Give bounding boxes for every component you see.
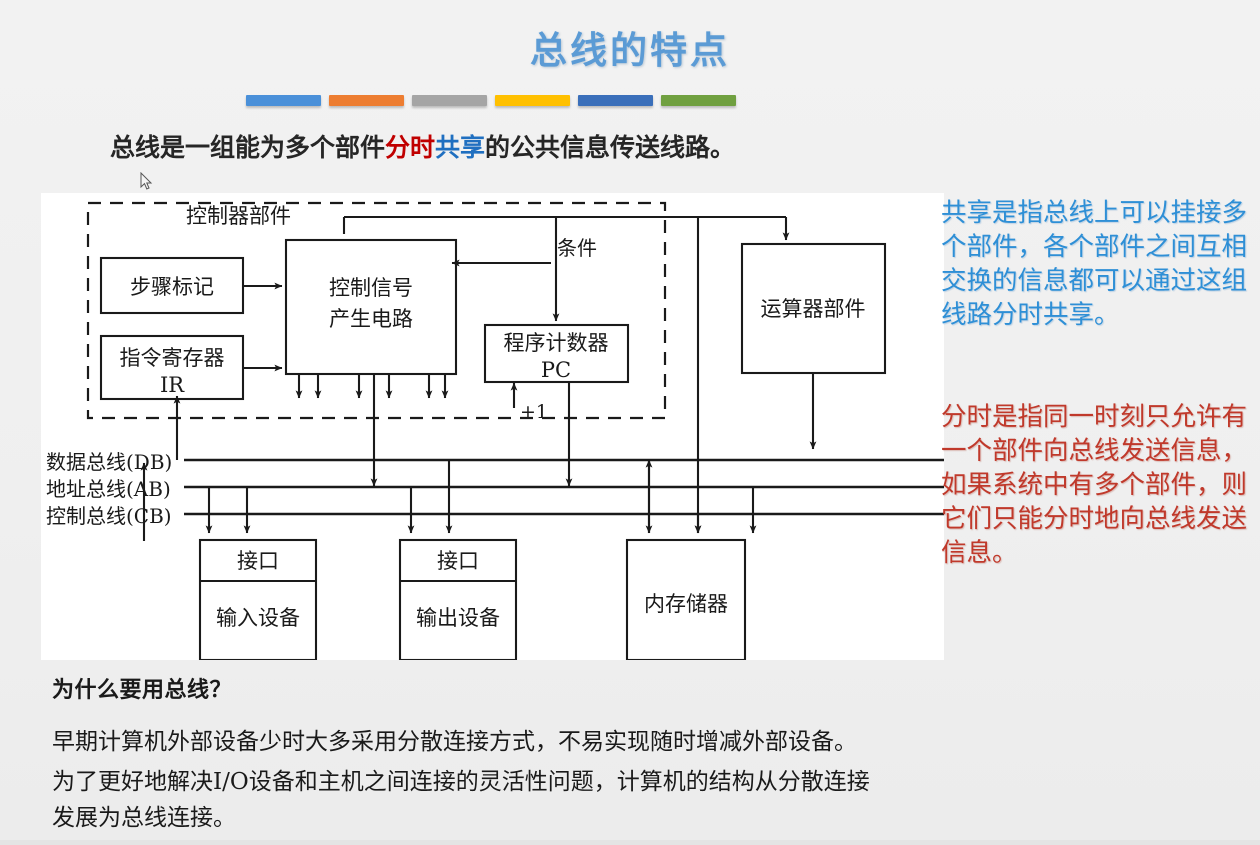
box-interface-out-label: 接口 — [437, 549, 479, 573]
box-control-label-line1: 控制信号 — [329, 276, 413, 300]
rule-bar-6 — [661, 95, 736, 106]
lead-sentence: 总线是一组能为多个部件分时共享的公共信息传送线路。 — [110, 128, 735, 164]
box-output-device-label: 输出设备 — [416, 606, 500, 630]
lead-blue-word: 共享 — [435, 133, 485, 162]
bus-label-address: 地址总线(AB) — [46, 473, 171, 502]
mouse-cursor-icon — [140, 172, 153, 191]
box-ir-label-line1: 指令寄存器 — [120, 346, 225, 370]
paragraph-line-1: 早期计算机外部设备少时大多采用分散连接方式，不易实现随时增减外部设备。 — [52, 722, 857, 756]
rule-bar-3 — [412, 95, 487, 106]
box-interface-in-label: 接口 — [237, 549, 279, 573]
note-timeshare: 分时是指同一时刻只允许有一个部件向总线发送信息，如果系统中有多个部件，则它们只能… — [941, 400, 1259, 570]
title-rule-bars — [246, 95, 736, 108]
paragraph-line-2: 为了更好地解决I/O设备和主机之间连接的灵活性问题，计算机的结构从分散连接 — [52, 762, 870, 796]
lead-part1: 总线是一组能为多个部件 — [110, 133, 385, 162]
page-title: 总线的特点 — [0, 20, 1260, 74]
label-condition: 条件 — [557, 236, 597, 260]
bus-architecture-diagram: 控制器部件 步骤标记 指令寄存器 IR 控制信号 产生电路 程序计数器 PC 运… — [41, 193, 944, 660]
slide-bottom-edge — [0, 840, 1260, 845]
rule-bar-2 — [329, 95, 404, 106]
box-input-device-label: 输入设备 — [216, 606, 300, 630]
rule-bar-5 — [578, 95, 653, 106]
rule-bar-4 — [495, 95, 570, 106]
box-control-label-line2: 产生电路 — [329, 307, 413, 331]
slide-canvas: 总线的特点 总线是一组能为多个部件分时共享的公共信息传送线路。 — [0, 0, 1260, 845]
box-pc-label-line1: 程序计数器 — [504, 331, 609, 355]
box-ir-label-line2: IR — [160, 373, 185, 397]
diagram-group-label: 控制器部件 — [186, 204, 291, 228]
rule-bar-1 — [246, 95, 321, 106]
box-pc-label-line2: PC — [541, 358, 571, 382]
box-memory-label: 内存储器 — [644, 592, 728, 616]
note-share: 共享是指总线上可以挂接多个部件，各个部件之间互相交换的信息都可以通过这组线路分时… — [941, 196, 1259, 332]
bus-label-data: 数据总线(DB) — [46, 446, 172, 475]
lead-part2: 的公共信息传送线路。 — [485, 133, 735, 162]
lead-red-word: 分时 — [385, 133, 435, 162]
box-alu-label: 运算器部件 — [761, 297, 866, 321]
bus-label-control: 控制总线(CB) — [46, 500, 172, 529]
question-heading: 为什么要用总线？ — [52, 672, 232, 704]
paragraph-line-3: 发展为总线连接。 — [52, 798, 236, 832]
box-step-marker-label: 步骤标记 — [130, 275, 214, 299]
label-increment: +1 — [520, 401, 548, 423]
